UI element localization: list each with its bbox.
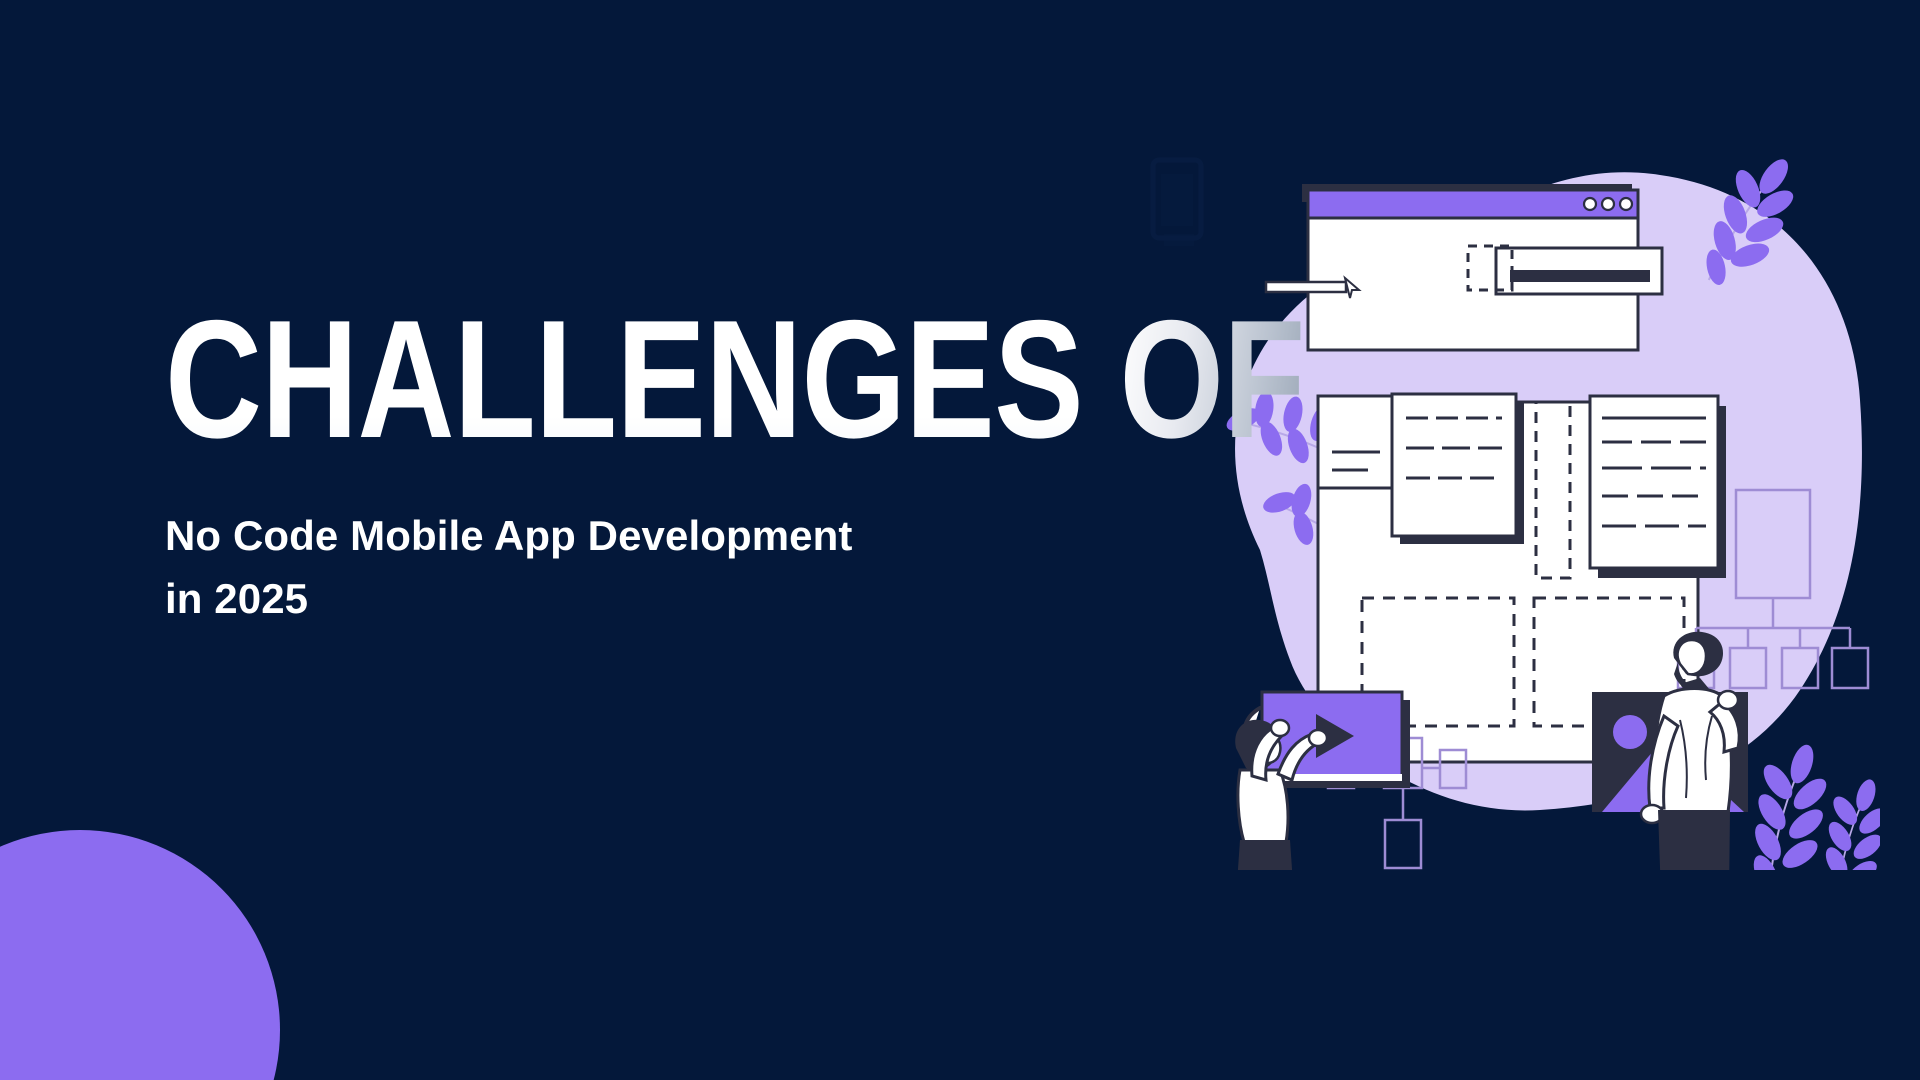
content-card-top-left <box>1318 396 1394 488</box>
browser-window-mockup <box>1266 184 1662 350</box>
headline-main-word: CHALLENGES <box>165 285 1083 473</box>
no-code-app-builder-illustration <box>1140 130 1880 870</box>
page-subtitle: No Code Mobile App Development in 2025 <box>165 504 1065 632</box>
subtitle-line-2: in 2025 <box>165 567 1065 631</box>
leaf-branch-bottom-right-large <box>1749 742 1832 870</box>
headline-space <box>1083 285 1120 473</box>
banner-root: CHALLENGES OF No Code Mobile App Develop… <box>0 0 1920 1080</box>
sun-circle-icon <box>1613 715 1647 749</box>
illustration-svg <box>1140 130 1880 870</box>
browser-window-dots <box>1584 198 1632 210</box>
leaf-branch-bottom-right-small <box>1820 777 1880 870</box>
content-card-top-mid <box>1392 394 1524 544</box>
decorative-corner-circle <box>0 830 280 1080</box>
content-card-top-right <box>1590 396 1726 578</box>
subtitle-line-1: No Code Mobile App Development <box>165 504 1065 568</box>
page-title: CHALLENGES OF <box>165 300 933 460</box>
phone-outline-silhouette <box>1153 160 1201 246</box>
text-column: CHALLENGES OF No Code Mobile App Develop… <box>165 300 1125 631</box>
headline-accent-word: OF <box>1119 285 1304 473</box>
